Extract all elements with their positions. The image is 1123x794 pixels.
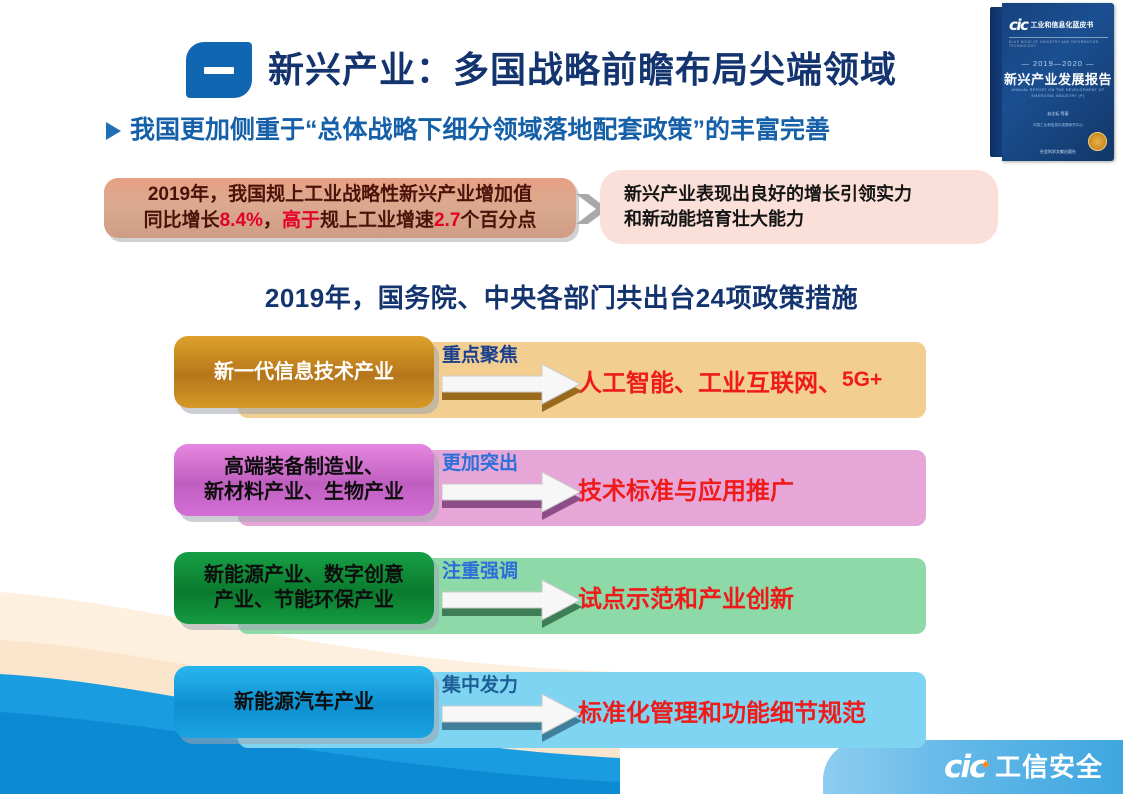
stat-growth-label: 同比增长	[144, 210, 220, 231]
stat-gap-unit: 个百分点	[460, 210, 536, 231]
stat-callout-left: 2019年，我国规上工业战略性新兴产业增加值 同比增长8.4%，高于规上工业增速…	[104, 178, 576, 238]
industry-box[interactable]: 新能源产业、数字创意 产业、节能环保产业	[174, 552, 434, 624]
section-heading: 2019年，国务院、中央各部门共出台24项政策措施	[0, 278, 1123, 315]
row-result: 人工智能、工业互联网、5G+	[578, 342, 912, 418]
footer-logo-bar: cic ✦ 工信安全	[823, 740, 1123, 794]
row-arrow-icon	[442, 580, 584, 628]
page-title: 新兴产业：多国战略前瞻布局尖端领域	[268, 52, 897, 88]
industry-label: 高端装备制造业、 新材料产业、生物产业	[204, 455, 404, 505]
row-result: 技术标准与应用推广	[578, 450, 912, 526]
row-tag: 注重强调	[442, 556, 518, 583]
book-author: 赵志耘 等著	[1002, 111, 1114, 117]
stat-gap-value: 2.7	[434, 210, 460, 231]
stat-compare-label: 规上工业增速	[320, 210, 434, 231]
row-result: 试点示范和产业创新	[578, 558, 912, 634]
measure-row: 高端装备制造业、 新材料产业、生物产业 更加突出 技术标准与应用推广	[174, 450, 926, 526]
industry-label: 新能源产业、数字创意 产业、节能环保产业	[204, 563, 404, 613]
stat-higher-label: 高于	[282, 210, 320, 231]
book-divider	[1009, 37, 1108, 38]
stat-left-line1: 2019年，我国规上工业战略性新兴产业增加值	[148, 182, 532, 208]
book-organization: 中国工业和信息化发展研究中心	[1002, 123, 1114, 128]
row-arrow-icon	[442, 472, 584, 520]
book-brand-name: 工业和信息化蓝皮书	[1030, 22, 1093, 29]
subtitle-row: 我国更加侧重于“总体战略下细分领域落地配套政策”的丰富完善	[106, 118, 830, 143]
industry-label: 新一代信息技术产业	[214, 360, 394, 385]
star-icon: ✦	[979, 756, 992, 774]
row-result-main: 试点示范和产业创新	[578, 579, 794, 614]
industry-label: 新能源汽车产业	[234, 690, 374, 715]
row-tag: 重点聚焦	[442, 340, 518, 367]
page-title-row: 新兴产业：多国战略前瞻布局尖端领域	[186, 42, 897, 98]
report-book-cover: cic 工业和信息化蓝皮书 BLUE BOOK OF INDUSTRY AND …	[990, 3, 1114, 161]
industry-box[interactable]: 高端装备制造业、 新材料产业、生物产业	[174, 444, 434, 516]
subtitle: 我国更加侧重于“总体战略下细分领域落地配套政策”的丰富完善	[130, 118, 830, 143]
book-year: — 2019—2020 —	[1002, 59, 1114, 68]
book-cic-logo: cic	[1009, 18, 1027, 33]
industry-box[interactable]: 新能源汽车产业	[174, 666, 434, 738]
book-brand-english: BLUE BOOK OF INDUSTRY AND INFORMATION TE…	[1009, 40, 1108, 48]
row-result-main: 标准化管理和功能细节规范	[578, 693, 866, 728]
bullet-arrow-icon	[106, 122, 121, 140]
slide-canvas: cic ✦ 工信安全 新兴产业：多国战略前瞻布局尖端领域 我国更加侧重于“总体战…	[0, 0, 1123, 794]
stat-comma: ，	[263, 210, 282, 231]
row-result-extra: 5G+	[842, 368, 882, 392]
row-arrow-icon	[442, 364, 584, 412]
stat-left-line2: 同比增长8.4%，高于规上工业增速2.7个百分点	[144, 208, 537, 234]
book-title: 新兴产业发展报告	[1002, 69, 1114, 88]
row-result-main: 人工智能、工业互联网、	[578, 363, 842, 398]
measure-row: 新一代信息技术产业 重点聚焦 人工智能、工业互联网、5G+	[174, 342, 926, 418]
row-tag: 更加突出	[442, 448, 518, 475]
book-brand-row: cic 工业和信息化蓝皮书	[1009, 15, 1108, 35]
stat-right-line2: 和新动能培育壮大能力	[624, 207, 998, 232]
section-number-badge	[186, 42, 252, 98]
row-tag: 集中发力	[442, 670, 518, 697]
book-seal-icon	[1088, 132, 1107, 151]
badge-dash-icon	[204, 67, 234, 74]
stat-callout-right: 新兴产业表现出良好的增长引领实力 和新动能培育壮大能力	[600, 170, 998, 244]
industry-box[interactable]: 新一代信息技术产业	[174, 336, 434, 408]
footer-logo-name: 工信安全	[995, 754, 1103, 780]
stat-right-line1: 新兴产业表现出良好的增长引领实力	[624, 182, 998, 207]
row-result: 标准化管理和功能细节规范	[578, 672, 912, 748]
book-title-english: ANNUAL REPORT ON THE DEVELOPMENT OF EMER…	[1010, 87, 1106, 99]
book-front: cic 工业和信息化蓝皮书 BLUE BOOK OF INDUSTRY AND …	[1002, 3, 1114, 161]
measure-row: 新能源汽车产业 集中发力 标准化管理和功能细节规范	[174, 672, 926, 748]
measure-row: 新能源产业、数字创意 产业、节能环保产业 注重强调 试点示范和产业创新	[174, 558, 926, 634]
stat-growth-value: 8.4%	[220, 210, 263, 231]
row-arrow-icon	[442, 694, 584, 742]
row-result-main: 技术标准与应用推广	[578, 471, 794, 506]
